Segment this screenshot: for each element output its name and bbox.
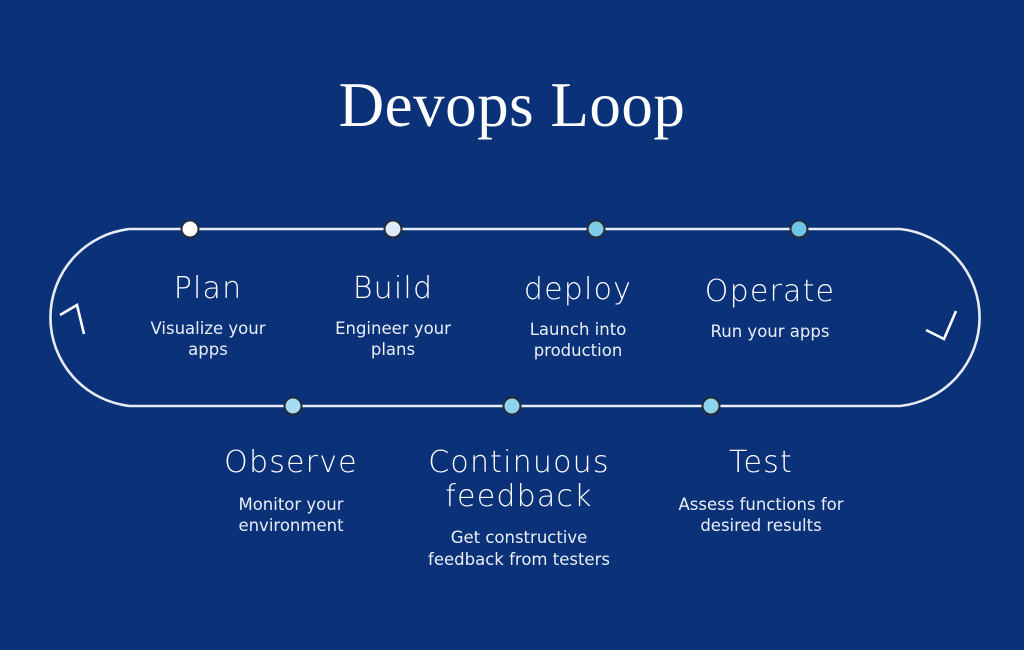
stage-operate-desc: Run your apps (660, 321, 880, 343)
stage-dot-plan[interactable] (181, 220, 200, 239)
stage-operate[interactable]: Operate Run your apps (660, 275, 880, 342)
stage-observe[interactable]: Observe Monitor your environment (171, 446, 411, 537)
stage-dot-test[interactable] (702, 397, 721, 416)
stage-test[interactable]: Test Assess functions for desired result… (631, 446, 891, 537)
stage-operate-title: Operate (660, 275, 880, 309)
page-title: Devops Loop (0, 72, 1024, 138)
diagram-canvas: Devops Loop Plan Visualize your apps Bui… (0, 0, 1024, 650)
stage-deploy-desc: Launch into production (468, 319, 688, 363)
stage-deploy[interactable]: deploy Launch into production (468, 273, 688, 362)
stage-continuous-feedback[interactable]: Continuous feedback Get constructive fee… (389, 446, 649, 571)
stage-continuous-feedback-title: Continuous feedback (389, 446, 649, 513)
stage-dot-build[interactable] (384, 220, 403, 239)
stage-dot-continuous-feedback[interactable] (503, 397, 522, 416)
stage-observe-title: Observe (171, 446, 411, 480)
stage-deploy-title: deploy (468, 273, 688, 307)
stage-continuous-feedback-desc: Get constructive feedback from testers (389, 527, 649, 571)
stage-test-title: Test (631, 446, 891, 480)
stage-test-desc: Assess functions for desired results (631, 494, 891, 538)
arrow-down-right-icon (926, 311, 956, 339)
arrow-up-left-icon (60, 305, 84, 334)
stage-dot-deploy[interactable] (587, 220, 606, 239)
stage-dot-operate[interactable] (790, 220, 809, 239)
stage-dot-observe[interactable] (284, 397, 303, 416)
stage-observe-desc: Monitor your environment (171, 494, 411, 538)
